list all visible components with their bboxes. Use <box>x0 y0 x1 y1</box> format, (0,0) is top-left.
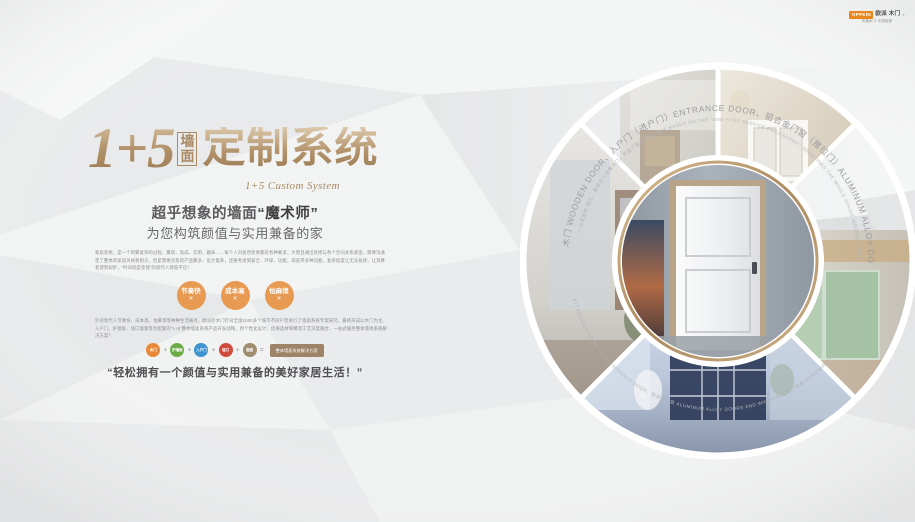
headline-main: 1+5 墙 面 定制系统 <box>88 120 378 177</box>
formula-equals: = <box>259 347 265 354</box>
logo-tagline: 有格木门·中国制造 <box>862 20 893 23</box>
formula-item[interactable]: 入户门 <box>194 343 208 357</box>
headline-english: 1+5 Custom System <box>245 180 340 192</box>
formula-item[interactable]: 木门 <box>146 343 160 357</box>
poster-root: OPPEIN 欧派 木门 ® 有格木门·中国制造 1+5 墙 面 定制系统 1+… <box>0 0 915 522</box>
headline-box-line2: 面 <box>180 149 194 164</box>
pain-point-item[interactable]: 怕麻烦 ✕ <box>265 281 294 310</box>
formula-row: 木门 + 护墙板 + 入户门 + 垭口 + 窗套 = 整体墙面系统解决方案 <box>0 343 470 357</box>
pain-point-label: 怕麻烦 <box>269 288 289 296</box>
headline-box: 墙 面 <box>177 132 197 166</box>
cross-icon: ✕ <box>188 296 193 303</box>
pain-point-list: 节奏快 ✕ 成本高 ✕ 怕麻烦 ✕ <box>0 281 470 310</box>
cross-icon: ✕ <box>232 296 237 303</box>
formula-operator: + <box>186 347 192 354</box>
brand-logo[interactable]: OPPEIN 欧派 木门 ® 有格木门·中国制造 <box>843 6 911 28</box>
tagline-block: 超乎想象的墙面“魔术师” 为您构筑颜值与实用兼备的家 <box>0 205 470 243</box>
logo-row: OPPEIN 欧派 木门 ® <box>849 11 904 19</box>
pain-point-item[interactable]: 成本高 ✕ <box>221 281 250 310</box>
photo-collage: 木门 WOODEN DOOR、入户门（进户门）ENTRANCE DOOR、铝合金… <box>520 40 915 482</box>
pain-point-label: 成本高 <box>225 288 245 296</box>
logo-registered-icon: ® <box>902 13 904 17</box>
formula-item[interactable]: 窗套 <box>243 343 257 357</box>
formula-item[interactable]: 垭口 <box>219 343 233 357</box>
formula-result-badge[interactable]: 整体墙面系统解决方案 <box>270 344 324 357</box>
pain-point-item[interactable]: 节奏快 ✕ <box>177 281 206 310</box>
tagline-accent: “魔术师” <box>257 206 318 222</box>
logo-brand-name: 欧派 木门 <box>875 12 900 18</box>
formula-operator: + <box>162 347 168 354</box>
headline-number: 1+5 <box>88 120 174 177</box>
formula-item[interactable]: 护墙板 <box>170 343 184 357</box>
tagline-prefix: 超乎想象的墙面 <box>152 206 258 222</box>
body-paragraph-1: 家居装修，是一个的繁复杂的过程，繁琐、高成、实用、趣味……每个人对居然装修都有各… <box>95 249 385 272</box>
formula-operator: + <box>235 347 241 354</box>
closing-quote: “轻松拥有一个颜值与实用兼备的美好家居生活！” <box>0 364 470 380</box>
cross-icon: ✕ <box>276 296 281 303</box>
headline-system: 定制系统 <box>202 127 378 170</box>
logo-badge: OPPEIN <box>849 11 873 19</box>
headline-block: 1+5 墙 面 定制系统 1+5 Custom System <box>88 118 388 198</box>
tagline-line-1: 超乎想象的墙面“魔术师” <box>0 205 470 224</box>
pain-point-label: 节奏快 <box>181 288 201 296</box>
headline-box-line1: 墙 <box>180 134 194 149</box>
formula-operator: + <box>210 347 216 354</box>
body-paragraph-2: 针对现代人节奏快、成本高、怕麻烦等种种生活痛点，欧派尼木门针对全国1000多个城… <box>95 317 387 340</box>
tagline-line-2: 为您构筑颜值与实用兼备的家 <box>0 224 470 243</box>
